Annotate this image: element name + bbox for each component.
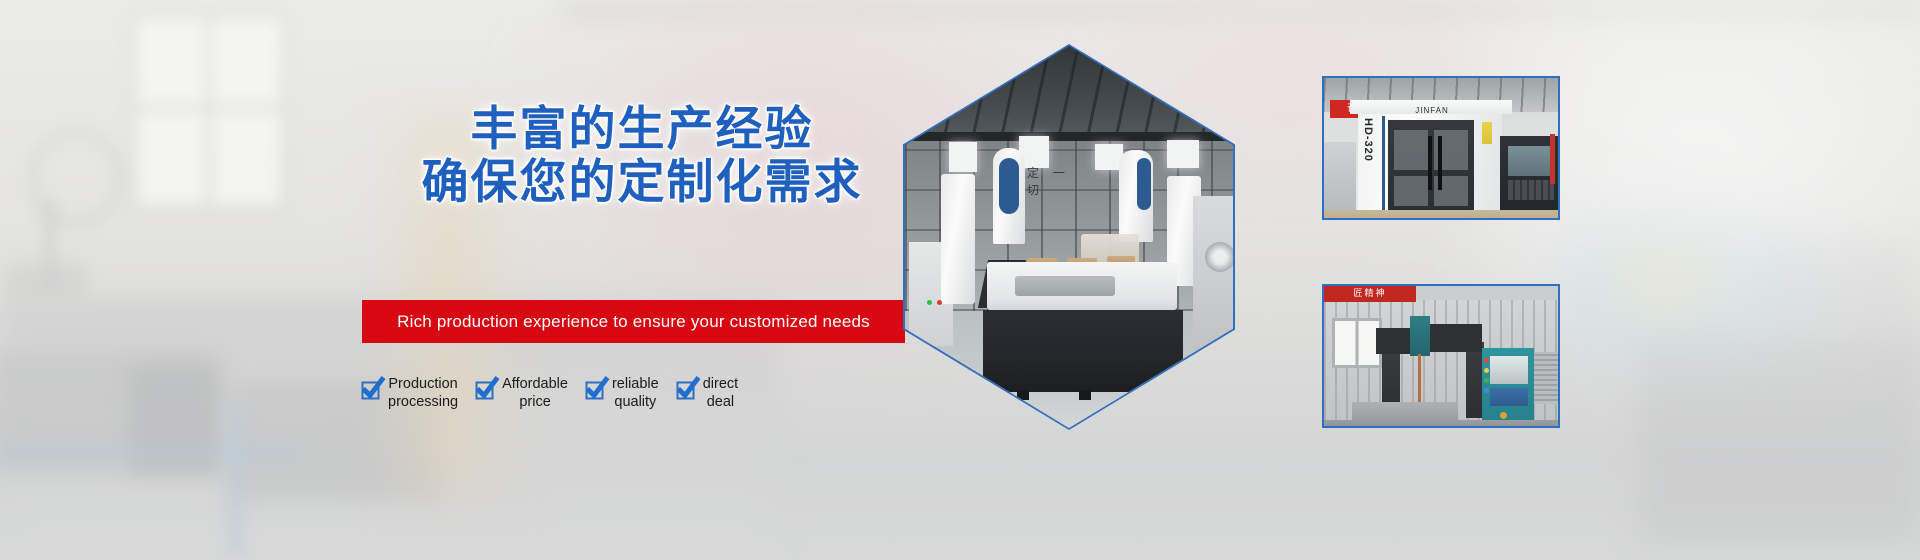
feature-label: direct deal	[703, 375, 738, 411]
headline-line-2: 确保您的定制化需求	[362, 157, 922, 210]
checkbox-checked-icon	[476, 381, 493, 398]
feature-item: Affordable price	[476, 375, 568, 411]
promo-banner: 丰富的生产经验 确保您的定制化需求 Rich production experi…	[0, 0, 1920, 560]
feature-item: direct deal	[677, 375, 738, 411]
machine-brand-label: JINFAN	[1400, 106, 1464, 116]
feature-list: Production processing Affordable price r…	[362, 375, 862, 423]
checkbox-checked-icon	[586, 381, 603, 398]
feature-label: Affordable price	[502, 375, 568, 411]
feature-item: reliable quality	[586, 375, 659, 411]
subtitle-red-bar: Rich production experience to ensure you…	[362, 300, 905, 343]
feature-label: Production processing	[388, 375, 458, 411]
workshop-wall-sign: 定 一 切	[1027, 164, 1089, 180]
checkbox-checked-icon	[362, 381, 379, 398]
feature-item: Production processing	[362, 375, 458, 411]
workshop-window-icon	[1332, 318, 1382, 368]
checkbox-checked-icon	[677, 381, 694, 398]
hero-photo-hexagon: 定 一 切	[903, 44, 1235, 430]
side-photo-machining-center: 奋力 JINFAN HD-320	[1322, 76, 1560, 220]
machine-model-label: HD-320	[1360, 118, 1374, 188]
wall-banner-text: 匠精神	[1324, 286, 1416, 302]
headline-line-1: 丰富的生产经验	[362, 104, 922, 157]
subtitle-text: Rich production experience to ensure you…	[397, 312, 870, 332]
feature-label: reliable quality	[612, 375, 659, 411]
headline: 丰富的生产经验 确保您的定制化需求	[362, 104, 922, 210]
side-photo-edm-machine: 匠精神	[1322, 284, 1560, 428]
